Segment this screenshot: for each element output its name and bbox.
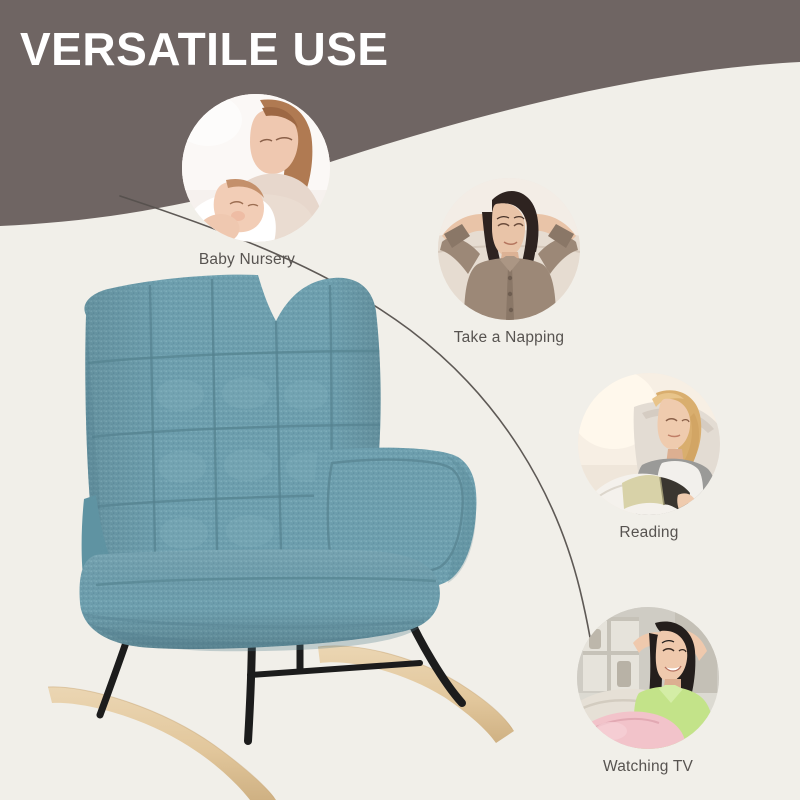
use-case-watching-tv[interactable]: Watching TV xyxy=(577,607,719,776)
use-case-take-a-napping[interactable]: Take a Napping xyxy=(438,178,580,347)
use-case-label: Watching TV xyxy=(577,758,719,776)
photo-watching-tv xyxy=(577,607,719,749)
use-case-label: Baby Nursery xyxy=(164,251,330,269)
use-case-label: Reading xyxy=(578,524,720,542)
versatile-use-poster: VERSATILE USE xyxy=(0,0,800,800)
use-case-label: Take a Napping xyxy=(438,329,580,347)
use-case-reading[interactable]: Reading xyxy=(578,373,720,542)
photo-reading xyxy=(578,373,720,515)
page-title: VERSATILE USE xyxy=(20,25,389,73)
photo-take-a-napping xyxy=(438,178,580,320)
photo-baby-nursery xyxy=(182,94,330,242)
use-case-baby-nursery[interactable]: Baby Nursery xyxy=(182,94,330,269)
